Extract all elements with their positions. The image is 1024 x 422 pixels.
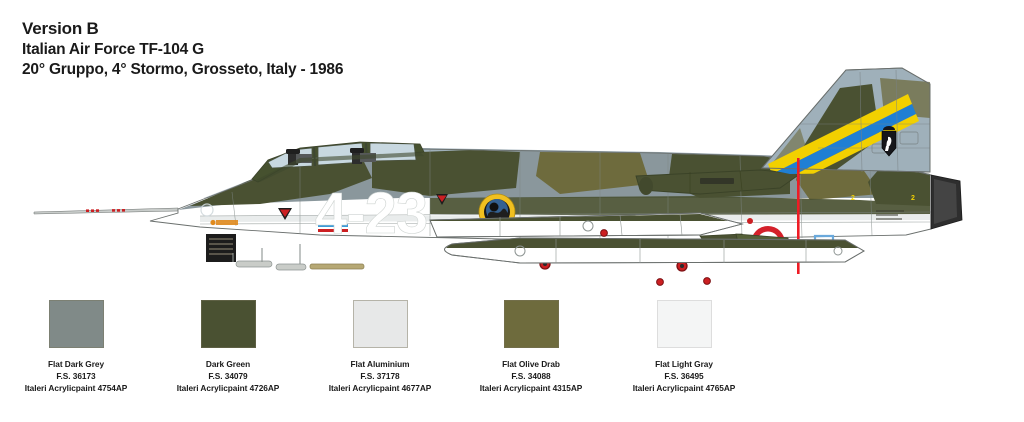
swatch-fs-3: F.S. 37178 — [304, 371, 456, 383]
swatch-chip-flat-aluminium — [353, 300, 408, 348]
swatch-name-1: Flat Dark Grey — [0, 359, 152, 371]
swatch-paint-5: Italeri Acrylicpaint 4765AP — [608, 383, 760, 395]
swatch-fs-2: F.S. 34079 — [152, 371, 304, 383]
swatch-name-4: Flat Olive Drab — [455, 359, 607, 371]
swatch-fs-5: F.S. 36495 — [608, 371, 760, 383]
swatch-name-3: Flat Aluminium — [304, 359, 456, 371]
aircraft-profile-illustration: 4-23 — [0, 48, 1024, 298]
swatch-chip-flat-dark-grey — [49, 300, 104, 348]
swatch-cell-1: Flat Dark Grey F.S. 36173 Italeri Acryli… — [0, 300, 152, 394]
swatch-paint-3: Italeri Acrylicpaint 4677AP — [304, 383, 456, 395]
version-label: Version B — [22, 18, 343, 40]
swatch-fs-4: F.S. 34088 — [455, 371, 607, 383]
swatch-paint-2: Italeri Acrylicpaint 4726AP — [152, 383, 304, 395]
profile-sheet: Version B Italian Air Force TF-104 G 20°… — [0, 0, 1024, 422]
swatch-cell-5: Flat Light Gray F.S. 36495 Italeri Acryl… — [608, 300, 760, 394]
swatch-cell-4: Flat Olive Drab F.S. 34088 Italeri Acryl… — [455, 300, 607, 394]
svg-text:2: 2 — [851, 195, 855, 202]
swatch-paint-4: Italeri Acrylicpaint 4315AP — [455, 383, 607, 395]
swatch-cell-3: Flat Aluminium F.S. 37178 Italeri Acryli… — [304, 300, 456, 394]
swatch-fs-1: F.S. 36173 — [0, 371, 152, 383]
nose-pitot-probe — [34, 208, 178, 214]
swatch-name-5: Flat Light Gray — [608, 359, 760, 371]
nose-underside-fittings — [233, 244, 364, 270]
paint-color-legend: Flat Dark Grey F.S. 36173 Italeri Acryli… — [0, 300, 1024, 410]
swatch-paint-1: Italeri Acrylicpaint 4754AP — [0, 383, 152, 395]
swatch-name-2: Dark Green — [152, 359, 304, 371]
swatch-chip-dark-green — [201, 300, 256, 348]
aircraft-code-4-23: 4-23 — [315, 181, 427, 246]
svg-text:2: 2 — [911, 195, 915, 202]
swatch-chip-flat-olive-drab — [504, 300, 559, 348]
swatch-chip-flat-light-gray — [657, 300, 712, 348]
swatch-cell-2: Dark Green F.S. 34079 Italeri Acrylicpai… — [152, 300, 304, 394]
